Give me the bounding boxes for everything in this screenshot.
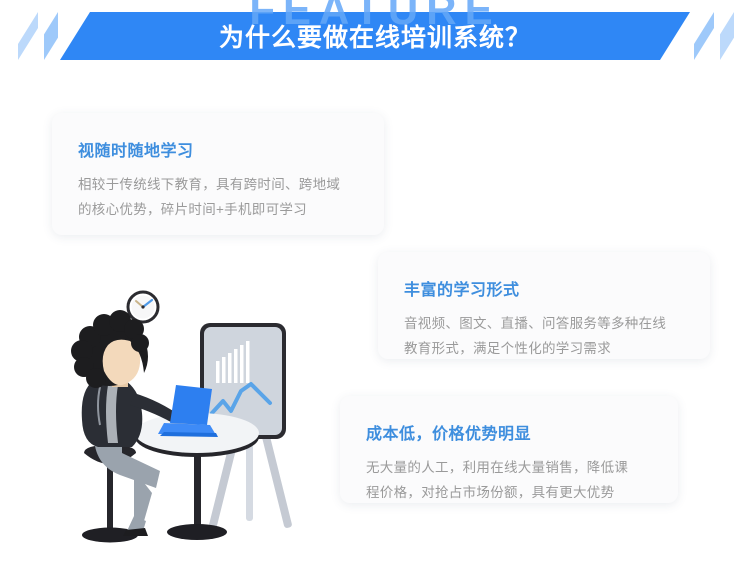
feature-card-body-line: 程价格，对抢占市场份额，具有更大优势 [366,481,652,506]
feature-card-body-line: 教育形式，满足个性化的学习需求 [404,337,684,362]
feature-card-body-line: 的核心优势，碎片时间+手机即可学习 [78,198,358,223]
feature-card-anytime-anywhere: 视随时随地学习 相较于传统线下教育，具有跨时间、跨地域 的核心优势，碎片时间+手… [52,113,384,235]
page-header-banner: FEATURE 为什么要做在线培训系统？ [0,0,750,72]
feature-card-body-line: 无大量的人工，利用在线大量销售，降低课 [366,456,652,481]
feature-card-body: 相较于传统线下教育，具有跨时间、跨地域 的核心优势，碎片时间+手机即可学习 [78,173,358,223]
feature-card-low-cost: 成本低，价格优势明显 无大量的人工，利用在线大量销售，降低课 程价格，对抢占市场… [340,396,678,503]
feature-card-rich-formats: 丰富的学习形式 音视频、图文、直播、问答服务等多种在线 教育形式，满足个性化的学… [378,252,710,359]
feature-card-title: 成本低，价格优势明显 [366,420,652,444]
page-title: 为什么要做在线培训系统？ [0,0,750,72]
feature-card-body: 无大量的人工，利用在线大量销售，降低课 程价格，对抢占市场份额，具有更大优势 [366,456,652,506]
feature-card-body-line: 音视频、图文、直播、问答服务等多种在线 [404,312,684,337]
feature-card-body-line: 相较于传统线下教育，具有跨时间、跨地域 [78,173,358,198]
feature-card-body: 音视频、图文、直播、问答服务等多种在线 教育形式，满足个性化的学习需求 [404,312,684,362]
feature-card-title: 视随时随地学习 [78,137,358,161]
wall-clock-icon [128,292,158,322]
hero-illustration [60,285,340,555]
feature-card-title: 丰富的学习形式 [404,276,684,300]
